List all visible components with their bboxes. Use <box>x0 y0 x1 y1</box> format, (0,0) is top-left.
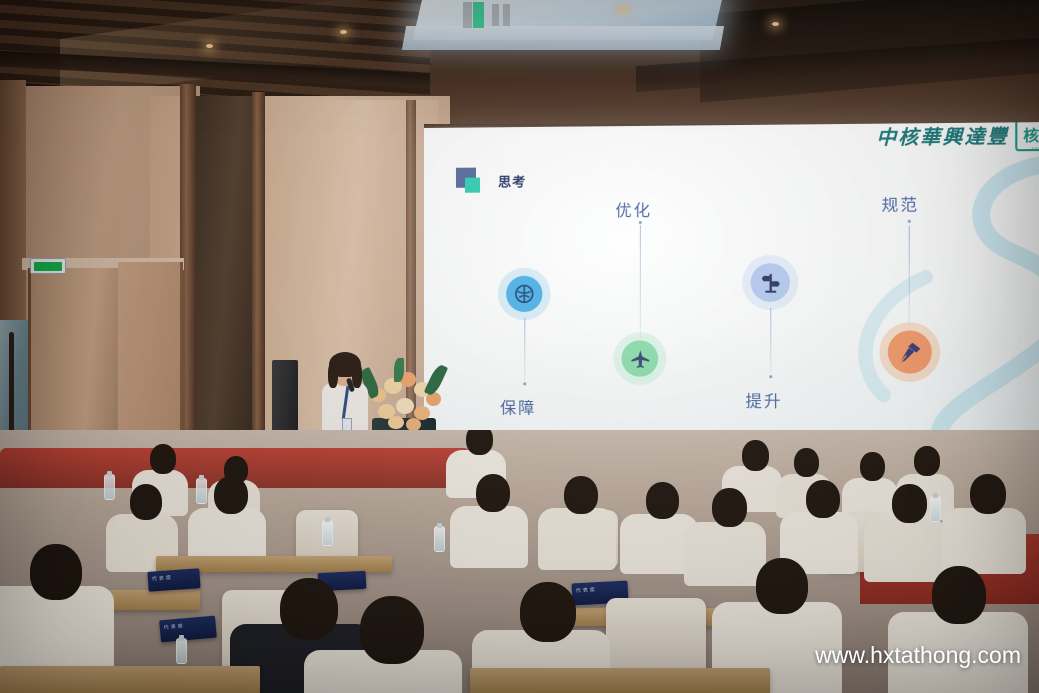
company-logo: 中核華興達豐 核 TAT 1 <box>876 122 1039 152</box>
downlight <box>340 30 347 34</box>
flower-arrangement <box>364 362 446 434</box>
presenter-hair-side <box>352 362 362 388</box>
loudspeaker <box>272 360 298 438</box>
timeline-node-3 <box>751 263 790 302</box>
slide-header-icon <box>456 168 484 194</box>
timeline-node-4 <box>888 331 932 374</box>
gavel-pen-icon <box>898 340 922 364</box>
water-bottle <box>930 496 941 522</box>
name-placard-text: 代表席 <box>576 586 597 594</box>
timeline-label-1: 保障 <box>500 394 536 418</box>
timeline-dot-3 <box>769 375 772 378</box>
company-logo-subtext: TAT 1 <box>1031 146 1039 151</box>
ceiling-fixture <box>492 4 499 26</box>
airplane-icon <box>629 348 650 369</box>
timeline-node-2 <box>621 340 658 377</box>
slide-title: 思考 <box>498 171 526 190</box>
timeline-dot-1 <box>523 382 526 385</box>
timeline-label-2: 优化 <box>615 197 652 221</box>
downlight <box>772 22 779 26</box>
exit-sign-icon <box>34 262 62 271</box>
downlight <box>206 44 213 48</box>
square-teal-icon <box>465 178 480 193</box>
water-bottle <box>434 526 445 552</box>
timeline-label-3: 提升 <box>745 387 782 412</box>
signpost-icon <box>759 272 781 293</box>
company-logo-text: 中核華興達豐 <box>876 122 1009 150</box>
exit-sign <box>30 258 66 274</box>
screenshot-root: 思考 中核華興達豐 核 TAT 1 保障 <box>0 0 1039 693</box>
ceiling-fixture <box>463 2 472 28</box>
timeline-stem-1 <box>524 318 525 380</box>
timeline-dot-4 <box>908 220 911 223</box>
table <box>0 666 260 693</box>
name-placard: 代表席 <box>147 568 200 592</box>
shield-globe-icon <box>514 284 534 304</box>
timeline-stem-2 <box>640 225 641 338</box>
ceiling-fixture <box>503 4 510 26</box>
water-bottle <box>322 520 333 546</box>
downlight <box>620 8 627 12</box>
ceiling-light-panel <box>402 26 724 50</box>
slide-header: 思考 <box>456 167 526 194</box>
timeline-label-4: 规范 <box>882 191 920 216</box>
water-bottle <box>176 638 187 664</box>
timeline-stem-3 <box>770 308 771 373</box>
timeline-node-1 <box>506 276 542 312</box>
table <box>470 668 770 693</box>
site-watermark: www.hxtathong.com <box>815 642 1021 669</box>
name-placard-text: 代表席 <box>152 574 173 582</box>
ceiling-fixture-green <box>473 2 484 28</box>
timeline-dot-2 <box>639 221 642 224</box>
water-bottle <box>196 478 207 504</box>
timeline-stem-4 <box>909 226 910 324</box>
water-bottle <box>104 474 115 500</box>
presenter-hair-side <box>328 362 338 388</box>
name-placard-text: 代表席 <box>163 622 185 631</box>
